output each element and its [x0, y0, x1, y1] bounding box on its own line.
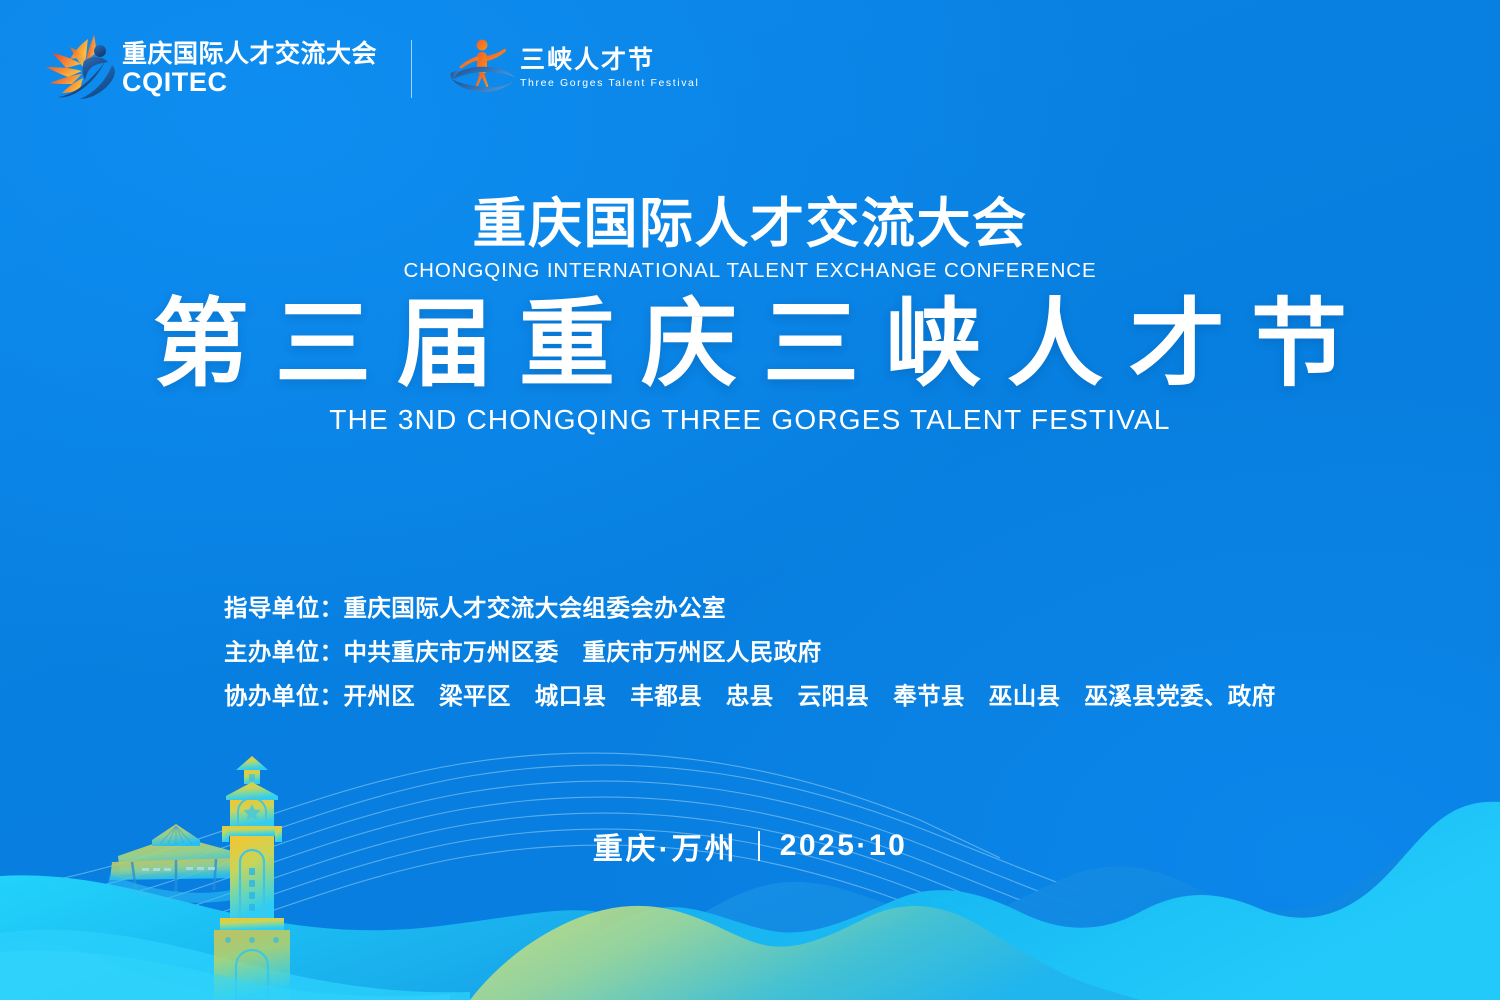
place-date-block: 重庆·万州 2025·10: [0, 824, 1500, 868]
three-gorges-name-cn: 三峡人才节: [520, 47, 699, 75]
organizer-line-guidance: 指导单位：重庆国际人才交流大会组委会办公室: [224, 586, 1276, 630]
three-gorges-figure-wave-logo-icon: [448, 35, 520, 102]
three-gorges-name-en: Three Gorges Talent Festival: [520, 77, 699, 90]
festival-title-cn: 第三届重庆三峡人才节: [0, 293, 1500, 397]
three-gorges-logo-text: 三峡人才节 Three Gorges Talent Festival: [520, 47, 699, 90]
bottom-artwork: [0, 740, 1500, 1000]
event-place: 重庆·万州: [593, 824, 738, 868]
festival-title-en: THE 3ND CHONGQING THREE GORGES TALENT FE…: [0, 404, 1500, 436]
poster-canvas: 重庆国际人才交流大会 CQITEC: [0, 0, 1500, 1000]
logo-divider: [411, 40, 412, 98]
place-date-separator: [758, 831, 760, 861]
logo-bar: 重庆国际人才交流大会 CQITEC: [40, 27, 699, 110]
organizers-block: 指导单位：重庆国际人才交流大会组委会办公室 主办单位：中共重庆市万州区委 重庆市…: [224, 586, 1276, 718]
cqitec-logo-text: 重庆国际人才交流大会 CQITEC: [122, 41, 377, 96]
conference-title-en: CHONGQING INTERNATIONAL TALENT EXCHANGE …: [0, 259, 1500, 283]
organizer-line-host: 主办单位：中共重庆市万州区委 重庆市万州区人民政府: [224, 630, 1276, 674]
title-block: 重庆国际人才交流大会 CHONGQING INTERNATIONAL TALEN…: [0, 196, 1500, 436]
cqitec-name-en: CQITEC: [122, 68, 377, 96]
three-gorges-logo: 三峡人才节 Three Gorges Talent Festival: [448, 35, 699, 102]
organizer-line-coorganizers: 协办单位：开州区 梁平区 城口县 丰都县 忠县 云阳县 奉节县 巫山县 巫溪县党…: [224, 674, 1276, 718]
cqitec-name-cn: 重庆国际人才交流大会: [122, 41, 377, 68]
conference-title-cn: 重庆国际人才交流大会: [0, 196, 1500, 253]
event-date: 2025·10: [780, 829, 908, 863]
cqitec-winged-figure-logo-icon: [40, 27, 122, 110]
cqitec-logo: 重庆国际人才交流大会 CQITEC: [40, 27, 377, 110]
